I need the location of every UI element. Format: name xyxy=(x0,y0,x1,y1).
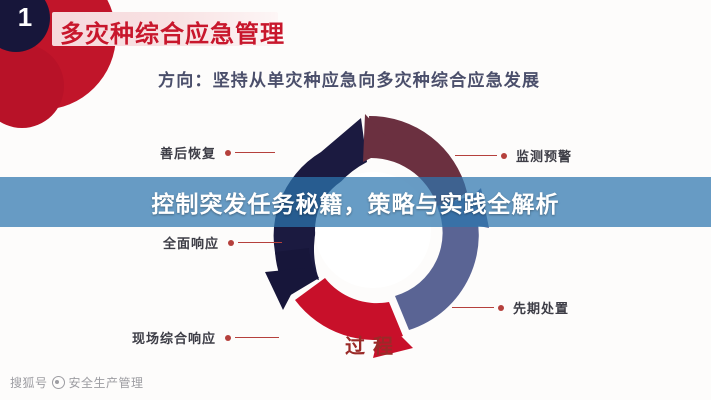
callout-leader-line xyxy=(235,337,279,339)
section-number-label: 1 xyxy=(0,4,32,32)
callout-jiance-yujing: 监测预警 xyxy=(455,146,572,165)
sohu-logo-icon xyxy=(52,376,65,389)
callout-label: 善后恢复 xyxy=(160,143,216,162)
callout-leader-line xyxy=(455,155,497,157)
cycle-diagram: 过程 xyxy=(243,100,503,362)
callout-label: 先期处置 xyxy=(513,298,569,317)
watermark: 搜狐号 安全生产管理 xyxy=(10,374,144,391)
slide-image: 1 多灾种综合应急管理 方向：坚持从单灾种应急向多灾种综合应急发展 xyxy=(0,0,711,400)
callout-dot-icon xyxy=(225,150,231,156)
section-title: 多灾种综合应急管理 xyxy=(60,14,285,49)
watermark-account: 安全生产管理 xyxy=(69,374,144,391)
callout-label: 监测预警 xyxy=(516,146,572,165)
callout-xianchang-zonghe-xiangying: 现场综合响应 xyxy=(132,328,279,347)
callout-dot-icon xyxy=(228,240,234,246)
watermark-prefix: 搜狐号 xyxy=(10,374,48,391)
callout-dot-icon xyxy=(498,305,504,311)
callout-label: 现场综合响应 xyxy=(132,328,216,347)
cycle-segment-red xyxy=(295,278,413,358)
callout-quanmian-xiangying: 全面响应 xyxy=(163,233,282,252)
callout-leader-line xyxy=(452,307,494,309)
direction-statement: 方向：坚持从单灾种应急向多灾种综合应急发展 xyxy=(158,66,540,91)
callout-dot-icon xyxy=(225,335,231,341)
callout-leader-line xyxy=(235,152,275,154)
callout-dot-icon xyxy=(501,153,507,159)
callout-leader-line xyxy=(238,242,282,244)
headline-overlay-title: 控制突发任务秘籍，策略与实践全解析 xyxy=(0,177,711,227)
callout-xianqi-chuzhi: 先期处置 xyxy=(452,298,569,317)
callout-shanhou-huifu: 善后恢复 xyxy=(160,143,275,162)
callout-label: 全面响应 xyxy=(163,233,219,252)
